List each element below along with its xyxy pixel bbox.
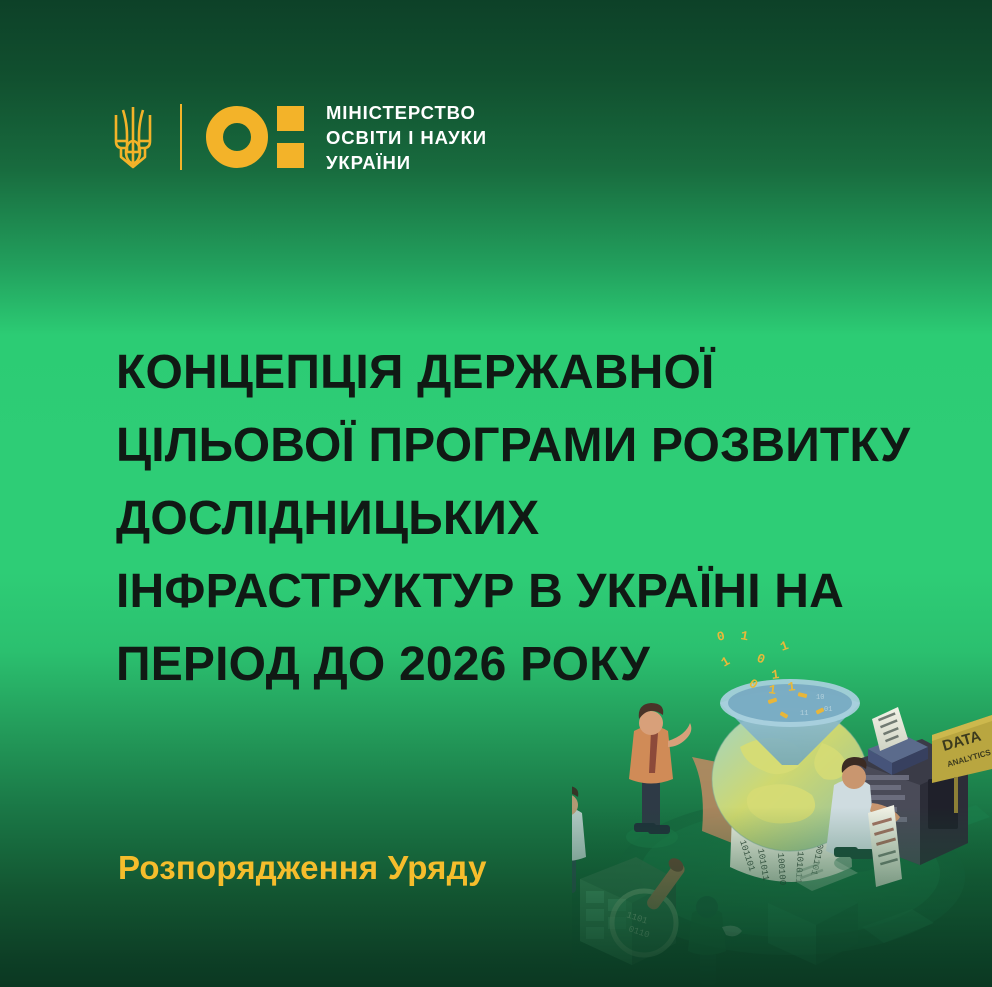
mon-o-equals-mark (206, 106, 304, 168)
poster-canvas: 101101 101011 100100 101011 001101 1011 … (0, 0, 992, 987)
illustration-walkway (872, 805, 990, 853)
svg-text:0110: 0110 (627, 924, 651, 940)
logo-divider (180, 104, 182, 170)
illustration-magnifier-server: 1101 0110 (580, 855, 687, 965)
svg-text:DATA: DATA (940, 728, 983, 755)
illustration-mainframe-station: DATA ANALYTICS (826, 707, 992, 887)
svg-text:1010: 1010 (822, 786, 837, 809)
illustration-person-researcher (626, 703, 691, 848)
illustration-data-analytics-sign: DATA ANALYTICS (932, 715, 992, 813)
svg-text:001101: 001101 (808, 842, 825, 876)
document-type-subtitle: Розпорядження Уряду (118, 849, 487, 887)
svg-text:1101: 1101 (625, 910, 649, 926)
illustration-platform (615, 799, 965, 955)
svg-text:11: 11 (800, 710, 808, 718)
svg-text:101011: 101011 (755, 848, 770, 882)
illustration-person-scientist (826, 757, 900, 872)
svg-text:1011: 1011 (729, 785, 745, 809)
ministry-logo-block: МІНІСТЕРСТВО ОСВІТИ І НАУКИ УКРАЇНИ (110, 96, 487, 178)
illustration-printer-documents (768, 857, 934, 965)
equals-bar-top (277, 106, 304, 131)
svg-text:01: 01 (824, 706, 832, 714)
svg-text:ANALYTICS: ANALYTICS (946, 748, 992, 769)
illustration-binary-panels: 101101 101011 100100 101011 001101 1011 … (692, 755, 852, 886)
equals-bar-bottom (277, 143, 304, 168)
svg-text:100100: 100100 (775, 853, 787, 886)
illustration-person-assistant (572, 786, 586, 893)
page-title: КОНЦЕПЦІЯ ДЕРЖАВНОЇ ЦІЛЬОВОЇ ПРОГРАМИ РО… (116, 336, 946, 701)
ukraine-trident-icon (110, 101, 156, 173)
equals-mark-icon (277, 106, 304, 168)
svg-text:101101: 101101 (737, 839, 757, 873)
illustration-globe (712, 707, 868, 851)
o-ring-icon (206, 106, 268, 168)
svg-text:101011: 101011 (793, 851, 805, 884)
ministry-name-text: МІНІСТЕРСТВО ОСВІТИ І НАУКИ УКРАЇНИ (326, 100, 487, 175)
illustration-person-observer (688, 896, 742, 985)
